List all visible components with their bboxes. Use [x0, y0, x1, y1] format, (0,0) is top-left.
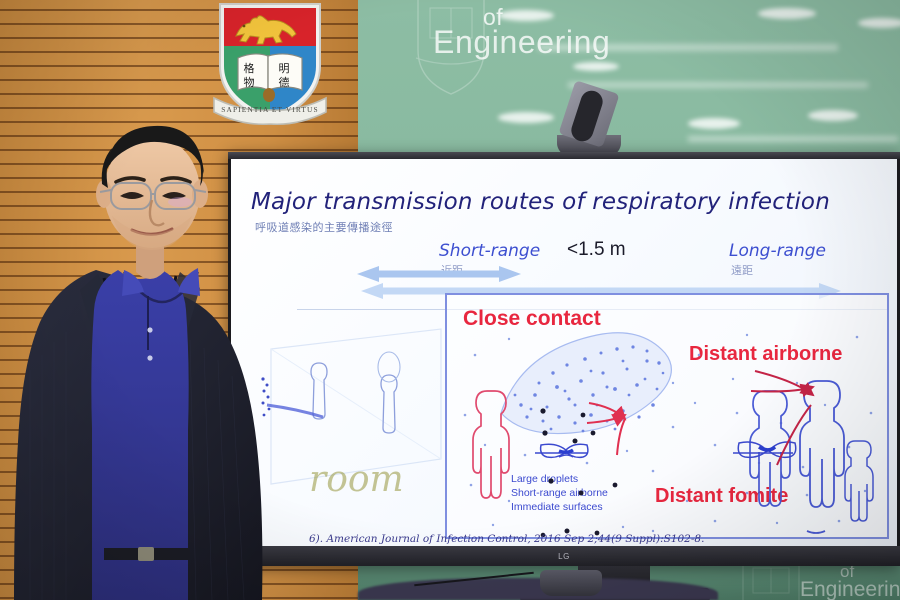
crest-motto: SAPIENTIA ET VIRTUS: [221, 105, 318, 114]
svg-text:物: 物: [244, 75, 255, 89]
light-reflection: [758, 8, 816, 19]
slide-citation: 6). American Journal of Infection Contro…: [309, 533, 704, 545]
light-reflection: [573, 62, 619, 71]
light-band: [568, 82, 868, 88]
presenter-photo: [0, 120, 360, 600]
svg-text:明: 明: [279, 62, 290, 75]
light-band: [538, 44, 838, 51]
svg-text:德: 德: [279, 75, 290, 89]
svg-text:格: 格: [244, 61, 255, 75]
light-reflection: [808, 110, 858, 121]
light-reflection: [498, 10, 554, 21]
screenshot-root: of Engineering E n g i n of Engineering: [0, 0, 900, 600]
light-reflection: [688, 118, 740, 129]
light-reflection: [858, 18, 900, 28]
light-reflection: [498, 112, 554, 123]
short-range-label: Short-range: [439, 241, 540, 261]
long-range-label: Long-range: [729, 241, 826, 261]
diagram-artwork: [447, 295, 889, 539]
distance-threshold-label: <1.5 m: [567, 239, 626, 261]
light-band: [688, 136, 898, 142]
desk-surface: [358, 578, 718, 600]
transmission-diagram: Close contact Distant airborne Distant f…: [445, 293, 889, 539]
wall-sign-engineering-2: Engineering: [800, 578, 900, 600]
wall-sign-engineering: Engineering: [433, 24, 610, 61]
hku-crest-icon: 格 物 明 德 SAPIENTIA ET VIRTUS: [212, 2, 328, 134]
monitor-brand-label: LG: [558, 552, 570, 561]
conference-speakerphone: [540, 570, 602, 596]
